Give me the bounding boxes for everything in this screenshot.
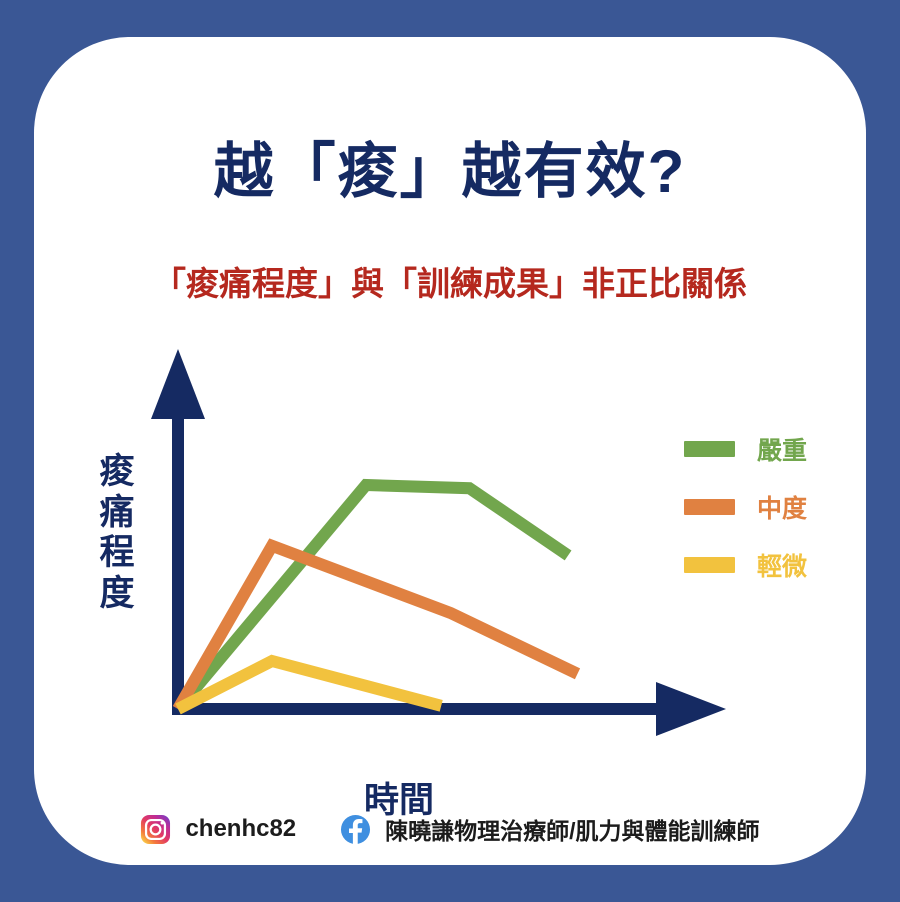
instagram-credit[interactable]: chenhc82 bbox=[140, 814, 296, 845]
x-axis bbox=[172, 682, 726, 736]
legend-label-moderate: 中度 bbox=[757, 489, 807, 525]
line-chart: 痠痛程度 時間 嚴重 中度 輕微 bbox=[34, 37, 866, 865]
instagram-handle: chenhc82 bbox=[185, 815, 296, 843]
facebook-icon bbox=[340, 814, 371, 845]
legend-label-severe: 嚴重 bbox=[757, 431, 807, 467]
y-axis-label: 痠痛程度 bbox=[91, 452, 143, 614]
legend-label-mild: 輕微 bbox=[757, 547, 807, 583]
facebook-handle: 陳曉謙物理治療師/肌力與體能訓練師 bbox=[385, 812, 759, 846]
facebook-credit[interactable]: 陳曉謙物理治療師/肌力與體能訓練師 bbox=[340, 812, 759, 846]
y-axis bbox=[151, 349, 205, 715]
legend-item-mild: 輕微 bbox=[684, 536, 849, 594]
chart-legend: 嚴重 中度 輕微 bbox=[684, 420, 849, 594]
instagram-icon bbox=[140, 814, 171, 845]
legend-swatch-severe bbox=[684, 441, 735, 457]
footer-credits: chenhc82 陳曉謙物理治療師/肌力與體能訓練師 bbox=[34, 812, 866, 846]
legend-swatch-mild bbox=[684, 557, 735, 573]
legend-swatch-moderate bbox=[684, 499, 735, 515]
legend-item-severe: 嚴重 bbox=[684, 420, 849, 478]
content-card: 越「痠」越有效? 「痠痛程度」與「訓練成果」非正比關係 bbox=[34, 37, 866, 865]
poster-canvas: 越「痠」越有效? 「痠痛程度」與「訓練成果」非正比關係 bbox=[0, 0, 900, 902]
legend-item-moderate: 中度 bbox=[684, 478, 849, 536]
